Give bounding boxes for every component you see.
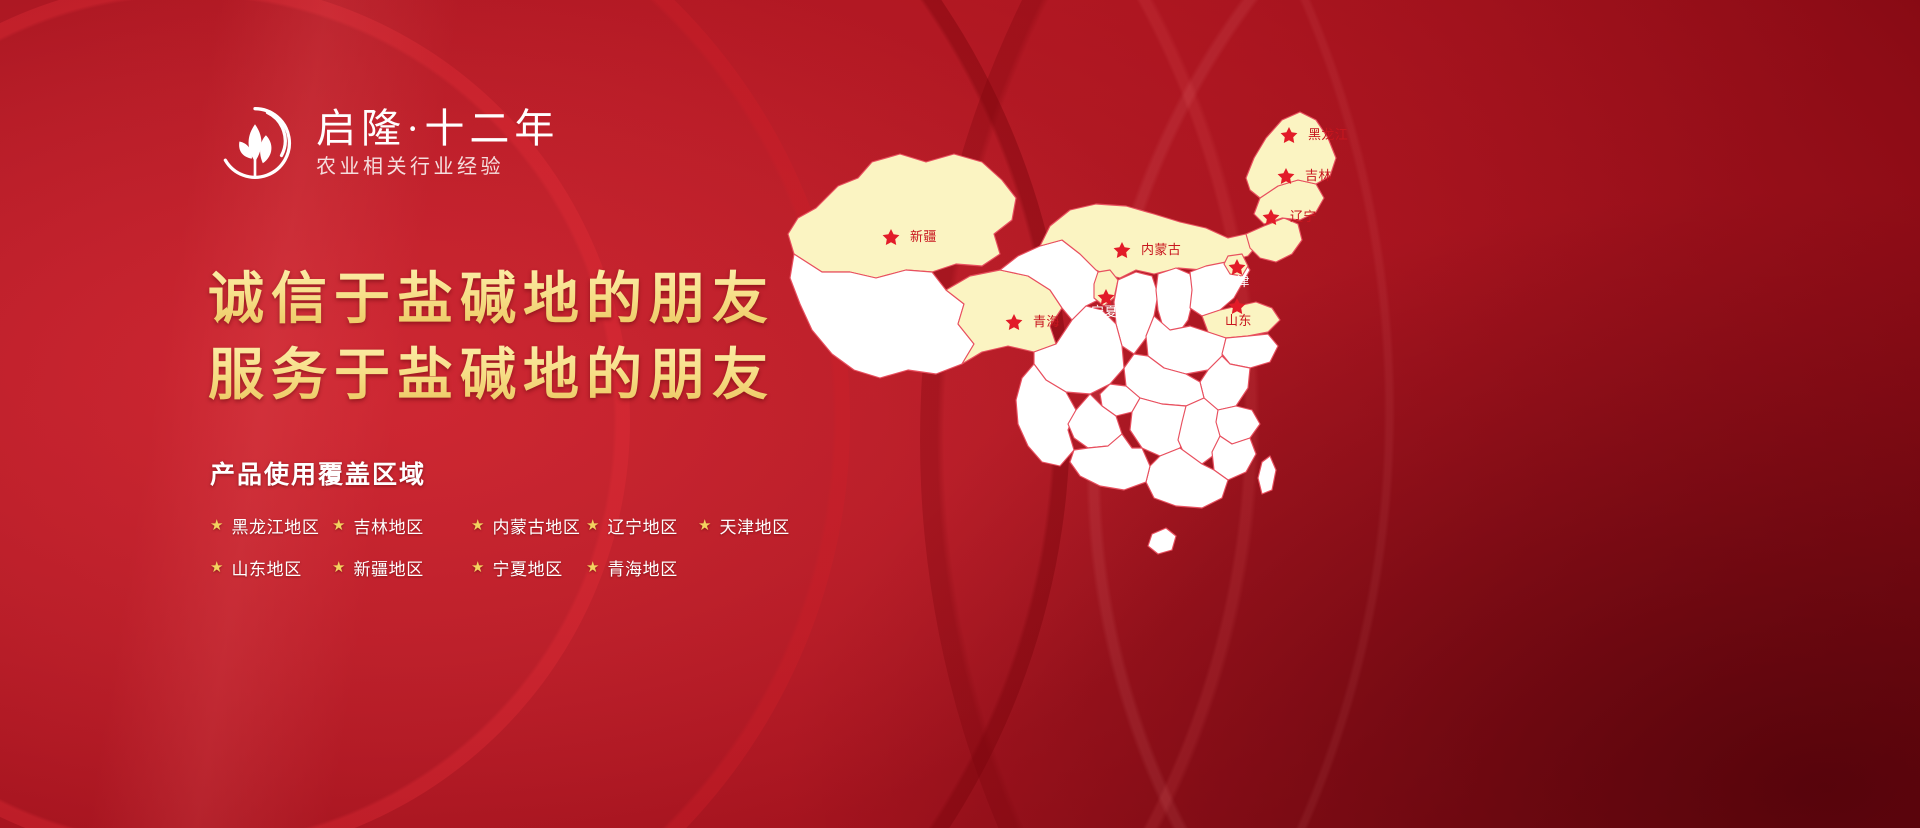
brand-lockup: 启隆·十二年 农业相关行业经验 xyxy=(216,104,559,182)
promo-banner: 启隆·十二年 农业相关行业经验 诚信于盐碱地的朋友 服务于盐碱地的朋友 产品使用… xyxy=(0,0,1920,828)
headline-line-1: 诚信于盐碱地的朋友 xyxy=(208,262,775,338)
province-hainan xyxy=(1148,528,1176,554)
list-item: ★黑龙江地区 xyxy=(210,513,332,538)
map-label: 辽宁 xyxy=(1290,209,1317,224)
province-xinjiang xyxy=(788,154,1016,278)
region-label: 黑龙江地区 xyxy=(231,513,319,538)
region-label: 新疆地区 xyxy=(353,555,423,580)
brand-subtitle: 农业相关行业经验 xyxy=(316,157,559,177)
province-jiangsu xyxy=(1222,334,1278,368)
map-label: 新疆 xyxy=(910,229,937,244)
star-icon: ★ xyxy=(332,560,345,575)
star-icon: ★ xyxy=(210,560,223,575)
coverage-title: 产品使用覆盖区域 xyxy=(210,455,810,491)
list-item: ★青海地区 xyxy=(586,555,698,580)
brand-title: 启隆·十二年 xyxy=(316,109,559,149)
star-icon: ★ xyxy=(698,518,711,533)
map-label: 黑龙江 xyxy=(1308,127,1348,142)
map-label: 山东 xyxy=(1225,313,1252,328)
region-label: 山东地区 xyxy=(231,555,301,580)
map-label: 吉林 xyxy=(1305,168,1332,183)
star-icon: ★ xyxy=(332,518,345,533)
province-taiwan xyxy=(1258,456,1276,494)
star-icon: ★ xyxy=(471,518,484,533)
region-label: 吉林地区 xyxy=(353,513,423,538)
lotus-leaf-circle-icon xyxy=(216,104,294,182)
star-icon: ★ xyxy=(471,560,484,575)
list-item: ★山东地区 xyxy=(210,555,332,580)
list-item: ★新疆地区 xyxy=(332,555,471,580)
star-icon: ★ xyxy=(210,518,223,533)
map-label: 天津 xyxy=(1223,274,1250,289)
map-label: 青海 xyxy=(1033,314,1060,329)
coverage-section: 产品使用覆盖区域 ★黑龙江地区 ★吉林地区 ★内蒙古地区 ★辽宁地区 ★天津地区… xyxy=(210,455,810,580)
star-icon: ★ xyxy=(586,560,599,575)
headline: 诚信于盐碱地的朋友 服务于盐碱地的朋友 xyxy=(208,262,775,414)
region-label: 青海地区 xyxy=(607,555,677,580)
list-item: ★吉林地区 xyxy=(332,513,471,538)
region-label: 宁夏地区 xyxy=(492,555,562,580)
list-item: ★内蒙古地区 xyxy=(471,513,586,538)
coverage-region-list: ★黑龙江地区 ★吉林地区 ★内蒙古地区 ★辽宁地区 ★天津地区 ★山东地区 ★新… xyxy=(210,513,810,580)
map-label: 宁夏 xyxy=(1091,304,1118,319)
map-marker-liaoning: 辽宁 xyxy=(1263,209,1317,225)
china-map: 新疆 青海 宁夏 内蒙古 xyxy=(740,58,1380,618)
region-label: 内蒙古地区 xyxy=(492,513,580,538)
map-label: 内蒙古 xyxy=(1141,242,1181,257)
brand-text: 启隆·十二年 农业相关行业经验 xyxy=(316,109,559,177)
headline-line-2: 服务于盐碱地的朋友 xyxy=(208,338,775,414)
province-liaoning xyxy=(1246,218,1302,262)
region-label: 辽宁地区 xyxy=(607,513,677,538)
list-item: ★宁夏地区 xyxy=(471,555,586,580)
star-icon: ★ xyxy=(586,518,599,533)
list-item: ★辽宁地区 xyxy=(586,513,698,538)
